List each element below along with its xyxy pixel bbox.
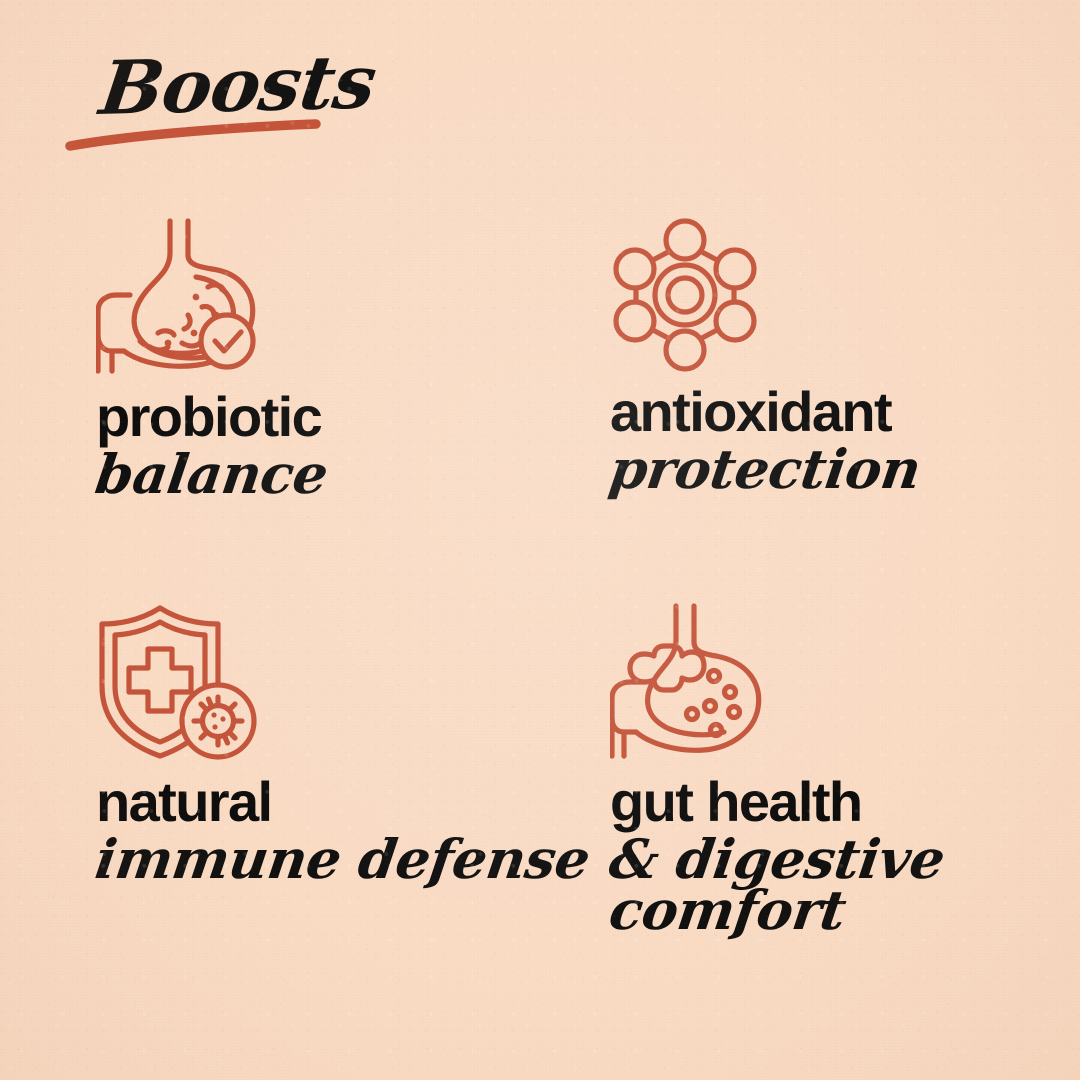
stomach-cross-digestive-icon	[610, 600, 785, 765]
benefit-item-immune: natural immune defense	[96, 600, 576, 887]
benefit-label-probiotic: probiotic balance	[96, 390, 566, 502]
benefit-main-label: probiotic	[96, 390, 566, 445]
benefit-main-label: gut health	[610, 775, 1050, 830]
shield-cross-virus-icon	[96, 600, 271, 765]
page-title: Boosts	[96, 45, 380, 126]
stomach-probiotic-check-icon	[96, 215, 271, 380]
benefit-script-label-1: balance	[92, 447, 570, 502]
benefit-label-immune: natural immune defense	[96, 775, 576, 887]
benefit-item-probiotic: probiotic balance	[96, 215, 566, 502]
benefit-main-label: natural	[96, 775, 576, 830]
benefit-item-antioxidant: antioxidant protection	[610, 215, 1050, 497]
page-title-block: Boosts	[66, 52, 486, 170]
benefit-item-gut-health: gut health & digestive comfort	[610, 600, 1050, 938]
infographic-canvas: Boosts	[0, 0, 1080, 1080]
benefit-script-label-2: comfort	[606, 883, 1054, 938]
benefit-label-gut-health: gut health & digestive comfort	[610, 775, 1050, 938]
benefit-script-label-1: protection	[606, 442, 1054, 497]
benefit-label-antioxidant: antioxidant protection	[610, 385, 1050, 497]
antioxidant-molecule-icon	[610, 215, 760, 375]
benefit-script-label-1: immune defense	[92, 832, 580, 887]
benefit-main-label: antioxidant	[610, 385, 1050, 440]
